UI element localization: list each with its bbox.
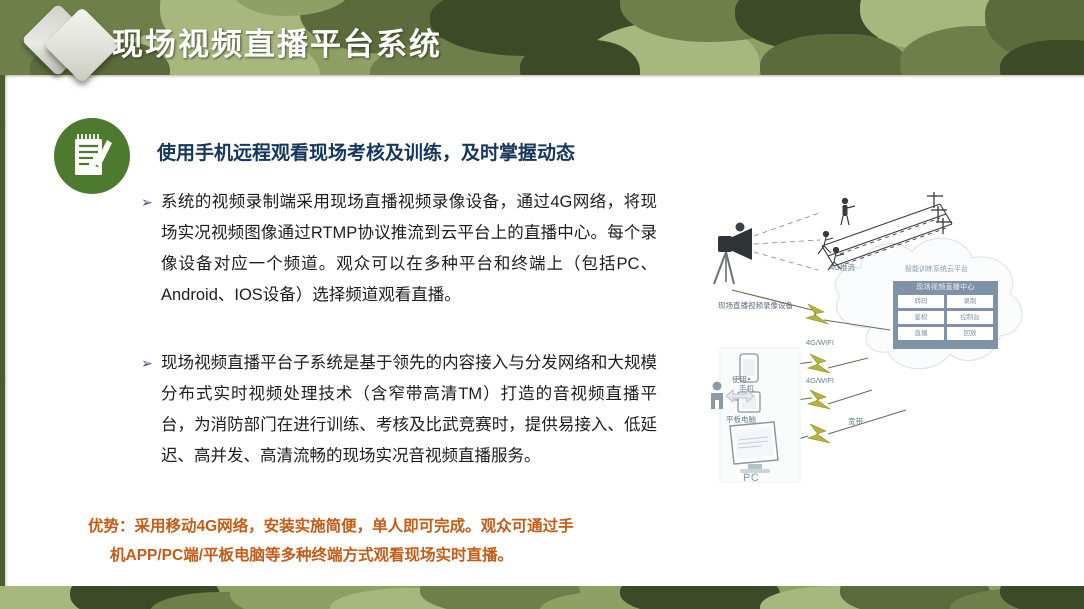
bullet-item: ➢ 现场视频直播平台子系统是基于领先的内容接入与分发网络和大规模分布式实时视频处… [141, 348, 657, 472]
camera-field-of-view [754, 212, 822, 270]
device-label-pc: PC [743, 472, 759, 484]
user-figure-icon [711, 382, 723, 410]
module-cell: 鉴权 [898, 311, 944, 324]
module-cell: 转码 [898, 295, 944, 308]
advantage-line-2: 机APP/PC端/平板电脑等多种终端方式观看现场实时直播。 [110, 547, 513, 564]
page-title: 现场视频直播平台系统 [112, 19, 442, 64]
cloud-platform-caption: 智能训练系统云平台 [905, 264, 968, 274]
device-label-phone: 手机 [739, 383, 754, 394]
bullet-marker-icon: ➢ [141, 187, 153, 218]
bullet-text: 系统的视频录制端采用现场直播视频录像设备，通过4G网络，将现场实况视频图像通过R… [161, 187, 657, 311]
bullet-marker-icon: ➢ [141, 348, 153, 379]
instructor-figure [841, 198, 855, 225]
bullet-text: 现场视频直播平台子系统是基于领先的内容接入与分发网络和大规模分布式实时视频处理技… [161, 348, 657, 472]
module-cell: 录制 [947, 295, 993, 308]
live-center-module-grid: 转码 录制 鉴权 控制台 直播 回放 [893, 295, 998, 345]
device-label-tablet: 平板电脑 [726, 414, 756, 425]
diagram-link-label-broadband: 宽带 [848, 416, 863, 427]
live-center-title: 现场视频直播中心 [893, 281, 998, 295]
module-cell: 回放 [947, 327, 993, 340]
diagram-vector-art [700, 178, 1060, 496]
module-cell: 控制台 [947, 311, 993, 324]
lead-heading: 使用手机远程观看现场考核及训练，及时掌握动态 [157, 138, 575, 165]
advantage-line-1: 优势：采用移动4G网络，安装实施简便，单人即可完成。观众可通过手 [88, 518, 574, 535]
live-center-box: 现场视频直播中心 转码 录制 鉴权 控制台 直播 回放 [893, 281, 998, 349]
bullet-item: ➢ 系统的视频录制端采用现场直播视频录像设备，通过4G网络，将现场实况视频图像通… [141, 187, 657, 311]
diagram-link-label-4g-push: 4G推流 [830, 262, 855, 273]
footer-camouflage-band [0, 586, 1084, 609]
diagram-link-label-wifi-2: 4G/WIFI [806, 376, 834, 385]
notepad-pencil-icon [54, 118, 130, 194]
left-accent-shadow [5, 75, 8, 586]
architecture-diagram: 现场直播视频录像设备 4G推流 4G/WIFI 4G/WIFI 宽带 使用 手机… [700, 178, 1060, 496]
video-camera-icon [714, 223, 752, 285]
diagram-source-label: 现场直播视频录像设备 [718, 300, 793, 311]
module-cell: 直播 [898, 327, 944, 340]
diagram-link-label-wifi-1: 4G/WIFI [806, 338, 834, 347]
advantage-callout: 优势：采用移动4G网络，安装实施简便，单人即可完成。观众可通过手 机APP/PC… [88, 512, 658, 570]
slide-canvas: 现场视频直播平台系统 [0, 0, 1084, 609]
header-band-shadow [0, 75, 1084, 78]
